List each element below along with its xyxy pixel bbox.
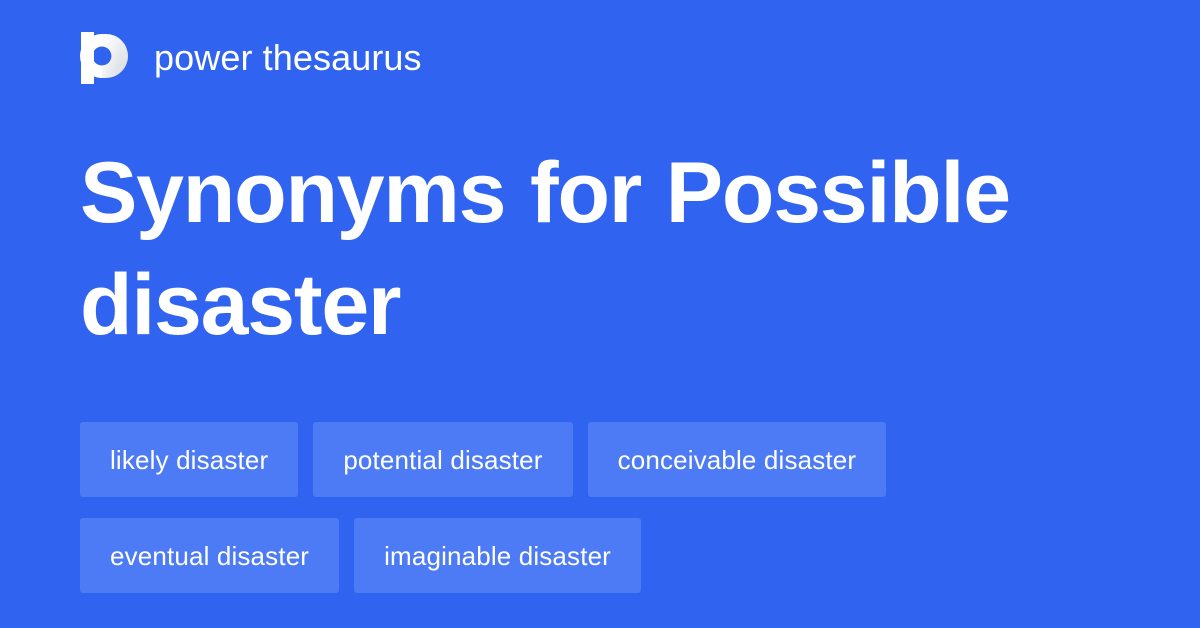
brand-name-label: power thesaurus (154, 38, 422, 78)
synonym-tag-list: likely disaster potential disaster conce… (80, 422, 1120, 593)
page-root: power thesaurus Synonyms for Possible di… (0, 0, 1200, 628)
synonym-tag[interactable]: potential disaster (313, 422, 572, 497)
powerthesaurus-b-logo-icon (80, 30, 128, 86)
page-title: Synonyms for Possible disaster (80, 137, 1120, 361)
synonym-tag[interactable]: likely disaster (80, 422, 298, 497)
synonym-tag-row: likely disaster potential disaster conce… (80, 422, 1120, 497)
brand-logo-wrapper (80, 30, 128, 86)
synonym-tag[interactable]: imaginable disaster (354, 518, 641, 593)
synonym-tag-row: eventual disaster imaginable disaster (80, 518, 1120, 593)
brand-header[interactable]: power thesaurus (80, 28, 422, 88)
synonym-tag[interactable]: conceivable disaster (588, 422, 887, 497)
synonym-tag[interactable]: eventual disaster (80, 518, 339, 593)
